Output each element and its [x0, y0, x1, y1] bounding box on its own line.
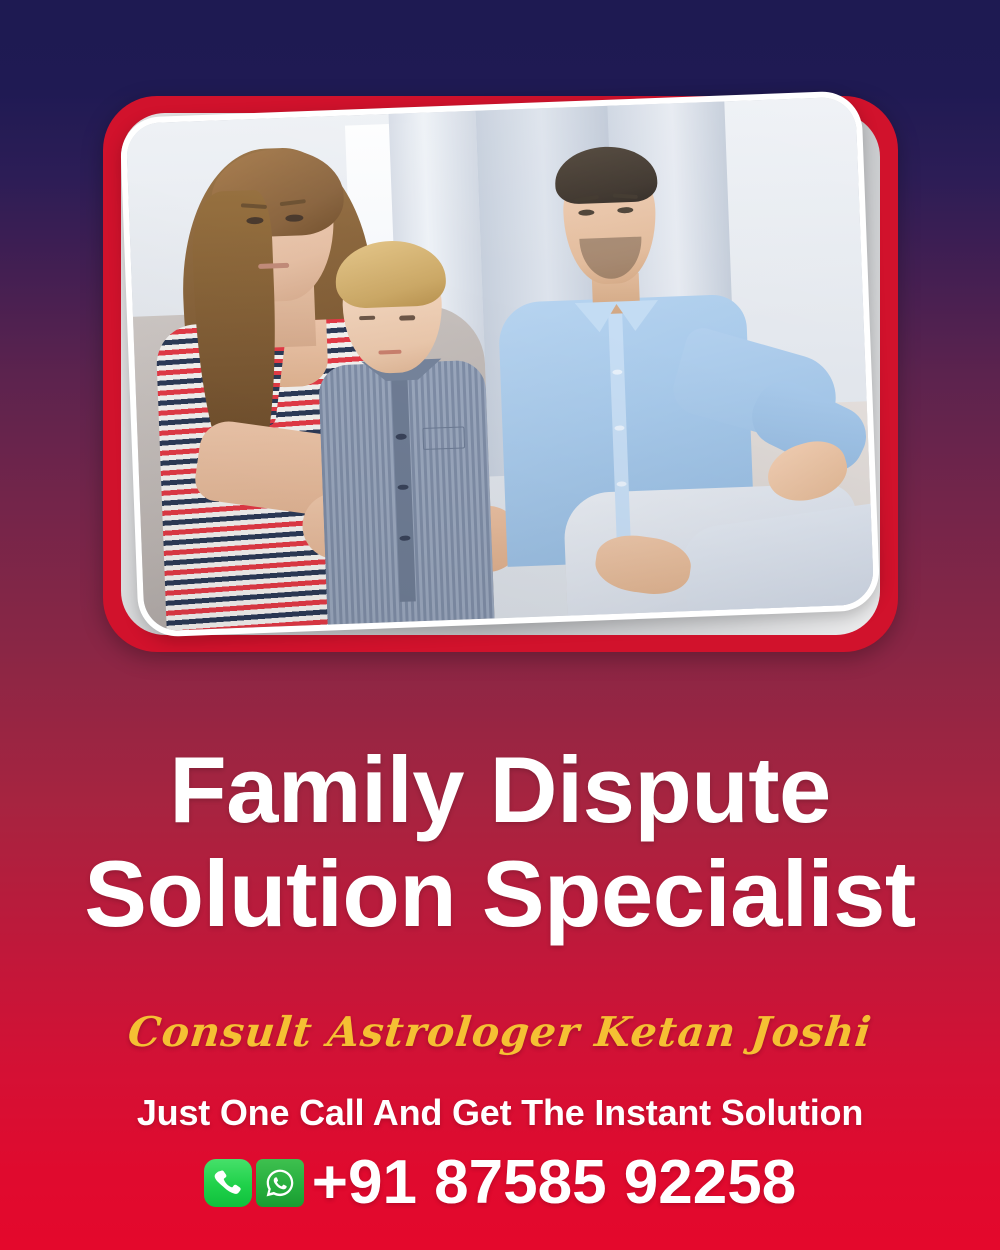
photo-card — [103, 96, 898, 652]
poster-canvas: Family Dispute Solution Specialist Consu… — [0, 0, 1000, 1250]
contact-row: +91 87585 92258 — [0, 1152, 1000, 1214]
tagline: Just One Call And Get The Instant Soluti… — [0, 1092, 1000, 1134]
photo-scene — [126, 96, 875, 631]
headline-line-2: Solution Specialist — [0, 848, 1000, 940]
headline-line-1: Family Dispute — [0, 744, 1000, 836]
family-photo — [126, 96, 875, 631]
photo-white-border — [120, 90, 881, 637]
phone-icon[interactable] — [204, 1159, 252, 1207]
whatsapp-icon[interactable] — [256, 1159, 304, 1207]
photo-shading-overlay — [126, 96, 875, 631]
astrologer-name-script: Consult Astrologer Ketan Joshi — [0, 1008, 1000, 1056]
phone-number[interactable]: +91 87585 92258 — [312, 1152, 796, 1214]
